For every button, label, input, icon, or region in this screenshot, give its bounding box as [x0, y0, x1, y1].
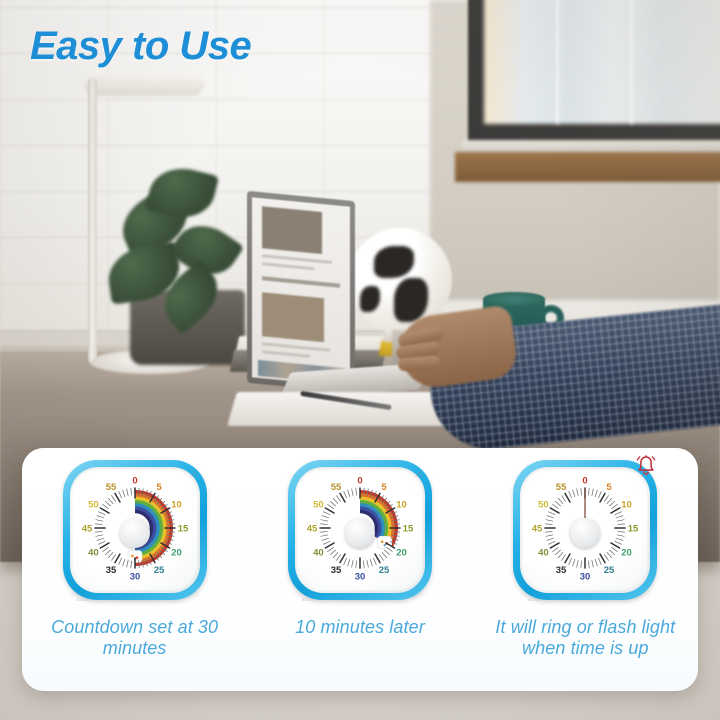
brand-label: BOYA [527, 597, 539, 602]
brand-label: BOYA [302, 597, 314, 602]
svg-text:20: 20 [396, 547, 407, 558]
svg-text:45: 45 [81, 523, 92, 534]
visual-timer-1[interactable]: 0510152025303540455055 BOYA [59, 458, 211, 608]
brand-label: BOYA [77, 597, 89, 602]
step-caption-2: 10 minutes later [252, 617, 468, 638]
svg-text:15: 15 [177, 523, 188, 534]
svg-text:0: 0 [357, 475, 362, 486]
svg-text:35: 35 [105, 565, 116, 576]
svg-text:55: 55 [331, 482, 342, 493]
svg-text:10: 10 [396, 499, 407, 510]
svg-text:10: 10 [622, 499, 633, 510]
svg-text:55: 55 [556, 482, 567, 493]
svg-text:30: 30 [129, 571, 140, 582]
svg-text:35: 35 [331, 565, 342, 576]
svg-text:15: 15 [403, 523, 414, 534]
svg-text:45: 45 [307, 523, 318, 534]
svg-text:20: 20 [622, 547, 633, 558]
svg-text:15: 15 [628, 523, 639, 534]
visual-timer-2[interactable]: 0510152025303540455055 BOYA [284, 458, 436, 608]
svg-text:5: 5 [607, 482, 613, 493]
step-caption-3: It will ring or flash light when time is… [477, 617, 693, 659]
step-caption-1: Countdown set at 30 minutes [27, 617, 243, 659]
steps-card: 0510152025303540455055 BOYA Countdown se… [22, 448, 698, 691]
svg-text:50: 50 [538, 499, 549, 510]
timer-knob[interactable] [120, 518, 150, 548]
page-title: Easy to Use [30, 24, 251, 69]
visual-timer-3[interactable]: 0510152025303540455055 BOYA [509, 458, 661, 608]
alarm-bell-icon [635, 454, 657, 478]
svg-text:10: 10 [171, 499, 182, 510]
svg-text:35: 35 [556, 565, 567, 576]
svg-text:25: 25 [379, 565, 390, 576]
step-panel-1: 0510152025303540455055 BOYA Countdown se… [22, 448, 247, 691]
svg-text:40: 40 [88, 547, 99, 558]
svg-text:40: 40 [538, 547, 549, 558]
svg-text:0: 0 [132, 475, 137, 486]
svg-text:5: 5 [381, 482, 387, 493]
svg-text:25: 25 [153, 565, 164, 576]
svg-text:30: 30 [355, 571, 366, 582]
timer-knob[interactable] [345, 518, 375, 548]
svg-text:45: 45 [532, 523, 543, 534]
svg-text:50: 50 [313, 499, 324, 510]
svg-text:55: 55 [105, 482, 116, 493]
svg-text:0: 0 [583, 475, 588, 486]
step-panel-2: 0510152025303540455055 BOYA 10 minutes l… [247, 448, 472, 691]
solar-cell-icon [190, 470, 199, 478]
svg-text:5: 5 [156, 482, 162, 493]
svg-text:50: 50 [88, 499, 99, 510]
svg-text:30: 30 [580, 571, 591, 582]
svg-text:25: 25 [604, 565, 615, 576]
screenshot-stage: Easy to Use 0510152025303540455055 [0, 0, 720, 720]
solar-cell-icon [415, 470, 424, 478]
step-panel-3: 0510152025303540455055 BOYA [473, 448, 698, 691]
svg-text:40: 40 [313, 547, 324, 558]
svg-text:20: 20 [171, 547, 182, 558]
steps-panels: 0510152025303540455055 BOYA Countdown se… [22, 448, 698, 691]
